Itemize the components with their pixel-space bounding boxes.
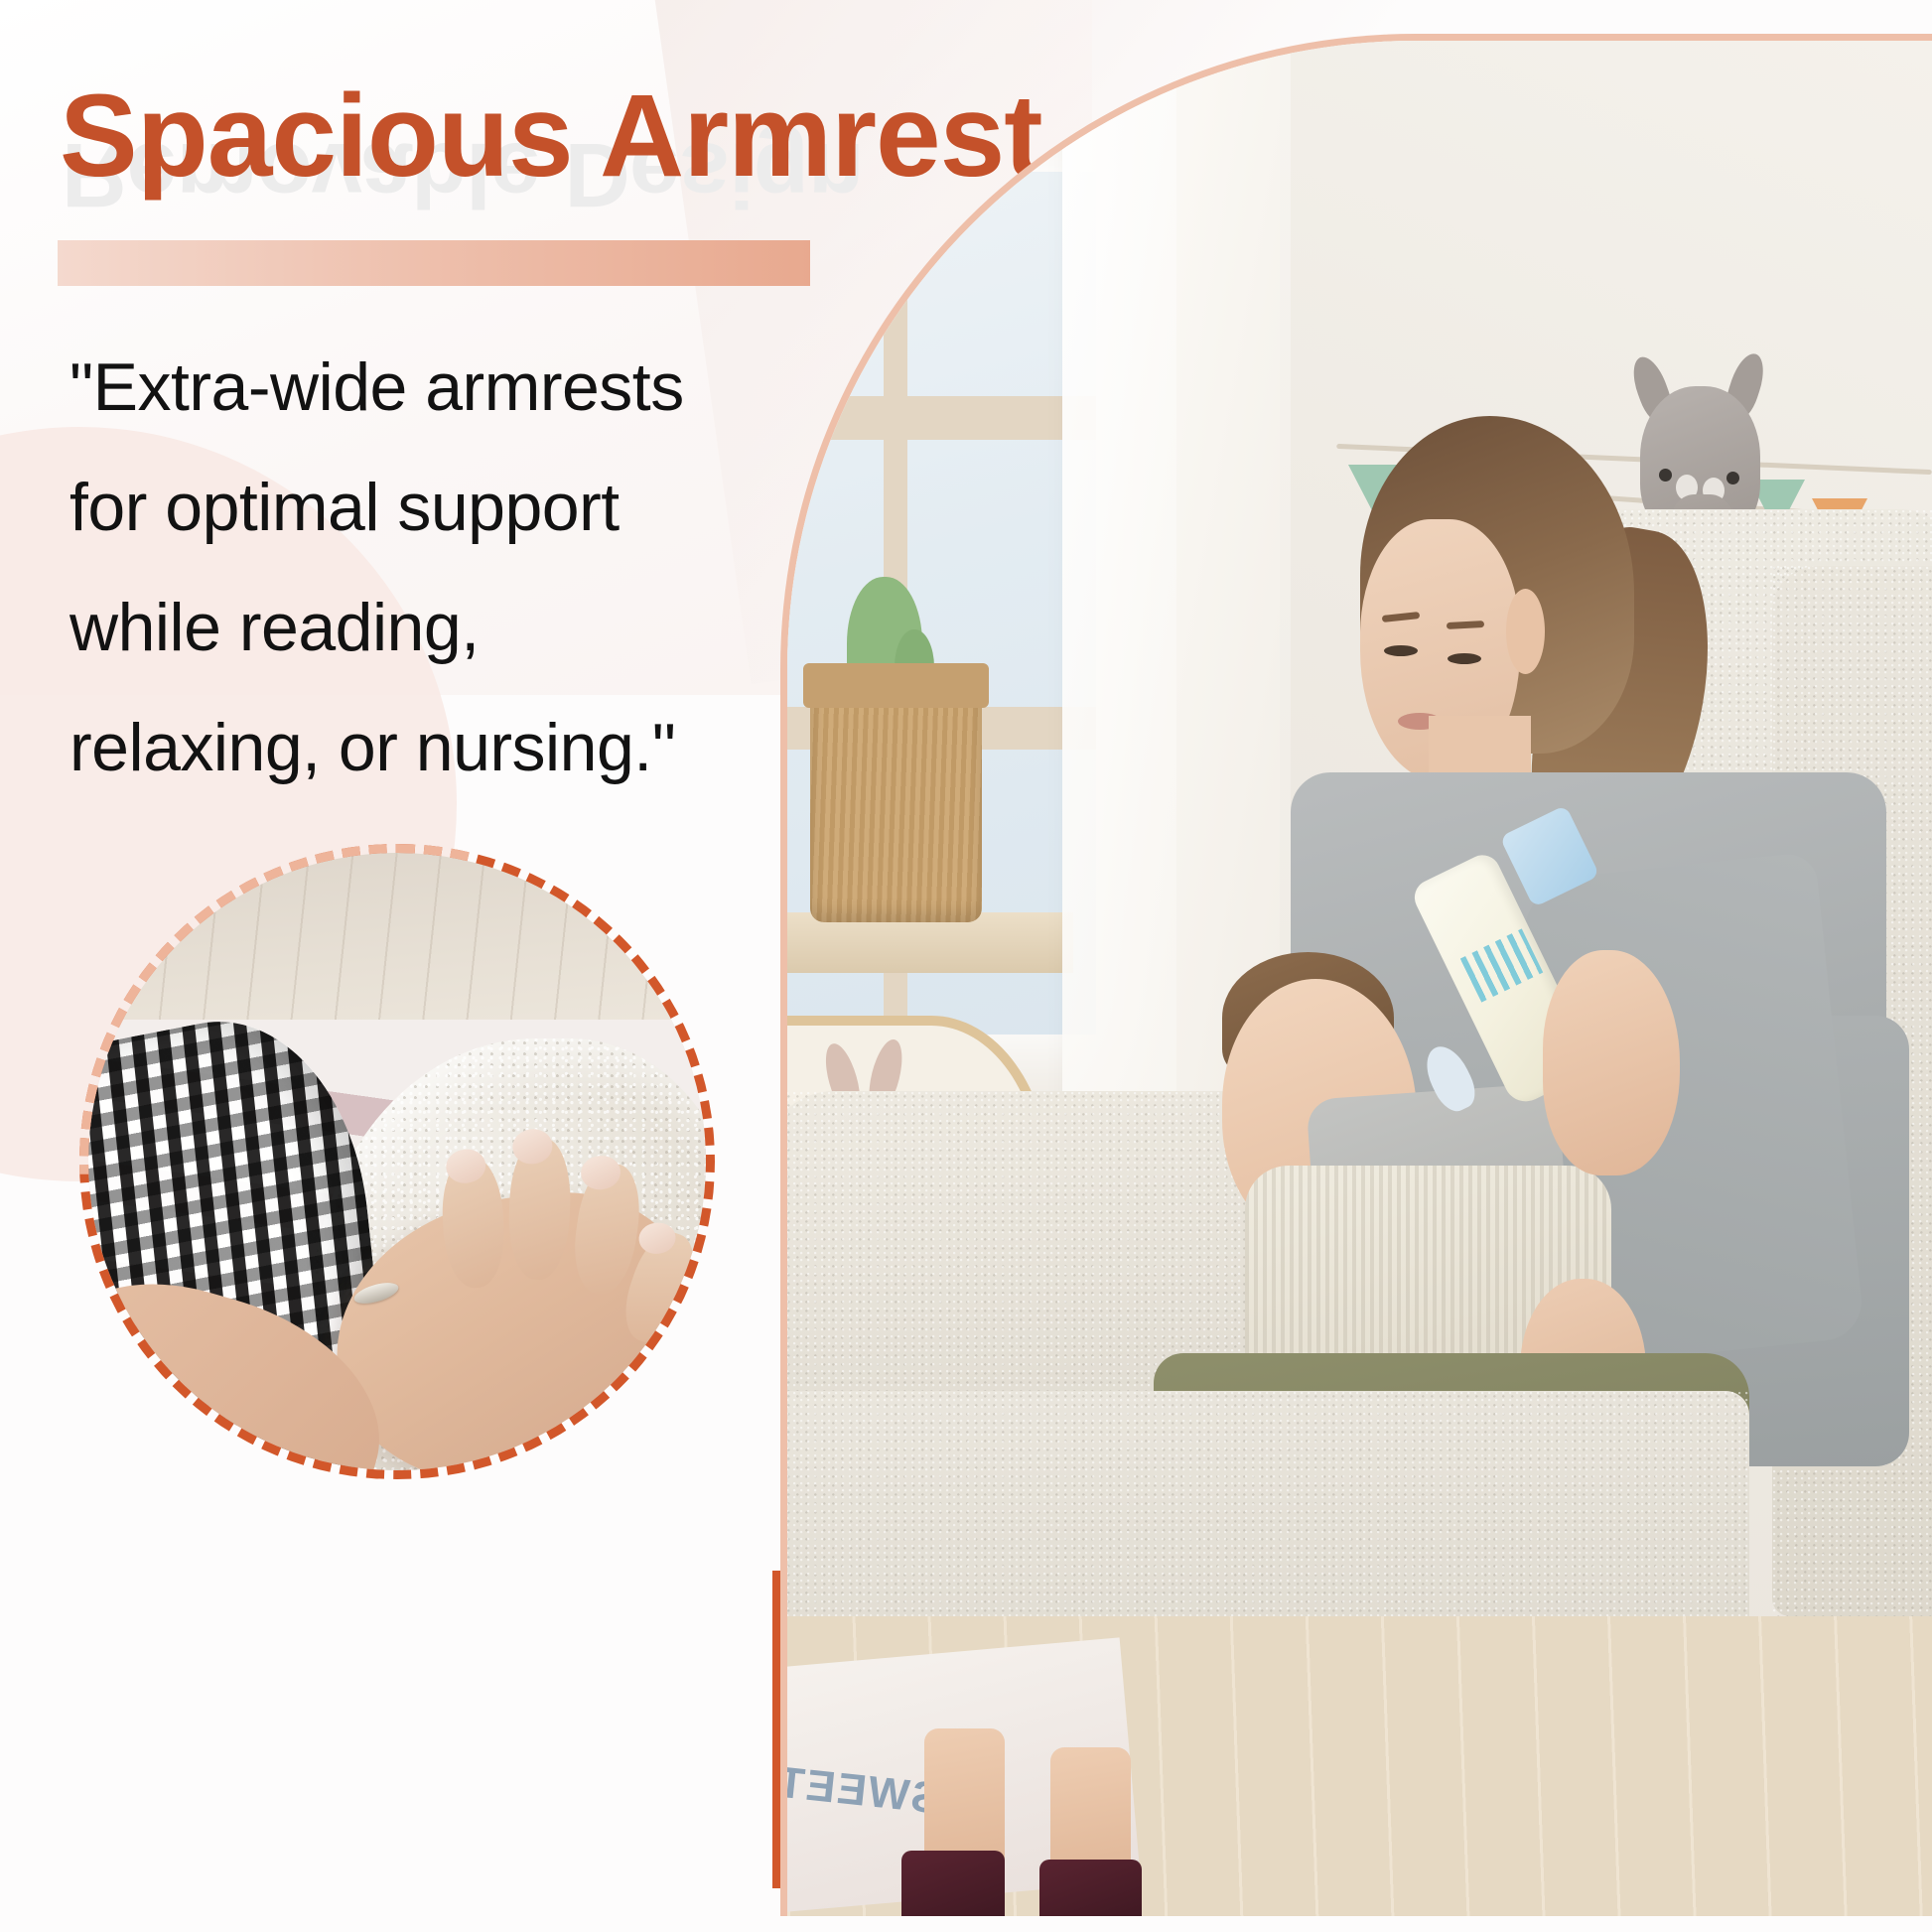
quote-line: for optimal support [69,448,685,568]
mother-boot [1039,1860,1143,1916]
woven-basket-rim [803,663,989,708]
main-lifestyle-photo: SWEET [780,34,1932,1916]
quote-line: "Extra-wide armrests [69,328,685,448]
mother-eyebrow [1382,612,1421,622]
mother-hand-holding-bottle [1543,950,1680,1175]
woven-basket [810,678,982,922]
mother-eye [1448,653,1481,664]
mother-eye [1384,645,1418,656]
mother-eyebrow [1446,621,1483,629]
armrest-closeup-inset [79,844,715,1479]
window-mullion-horizontal [780,396,1096,439]
title-underline-bar [58,240,810,286]
quote-line: relaxing, or nursing." [69,688,685,808]
rhino-eye [1726,472,1739,484]
poster-canvas: Removable Design Spacious Armrest "Extra… [0,0,1932,1932]
feature-quote: "Extra-wide armrests for optimal support… [69,328,685,808]
mother-boot [901,1851,1005,1916]
rhino-eye [1659,469,1672,482]
quote-line: while reading, [69,568,685,688]
